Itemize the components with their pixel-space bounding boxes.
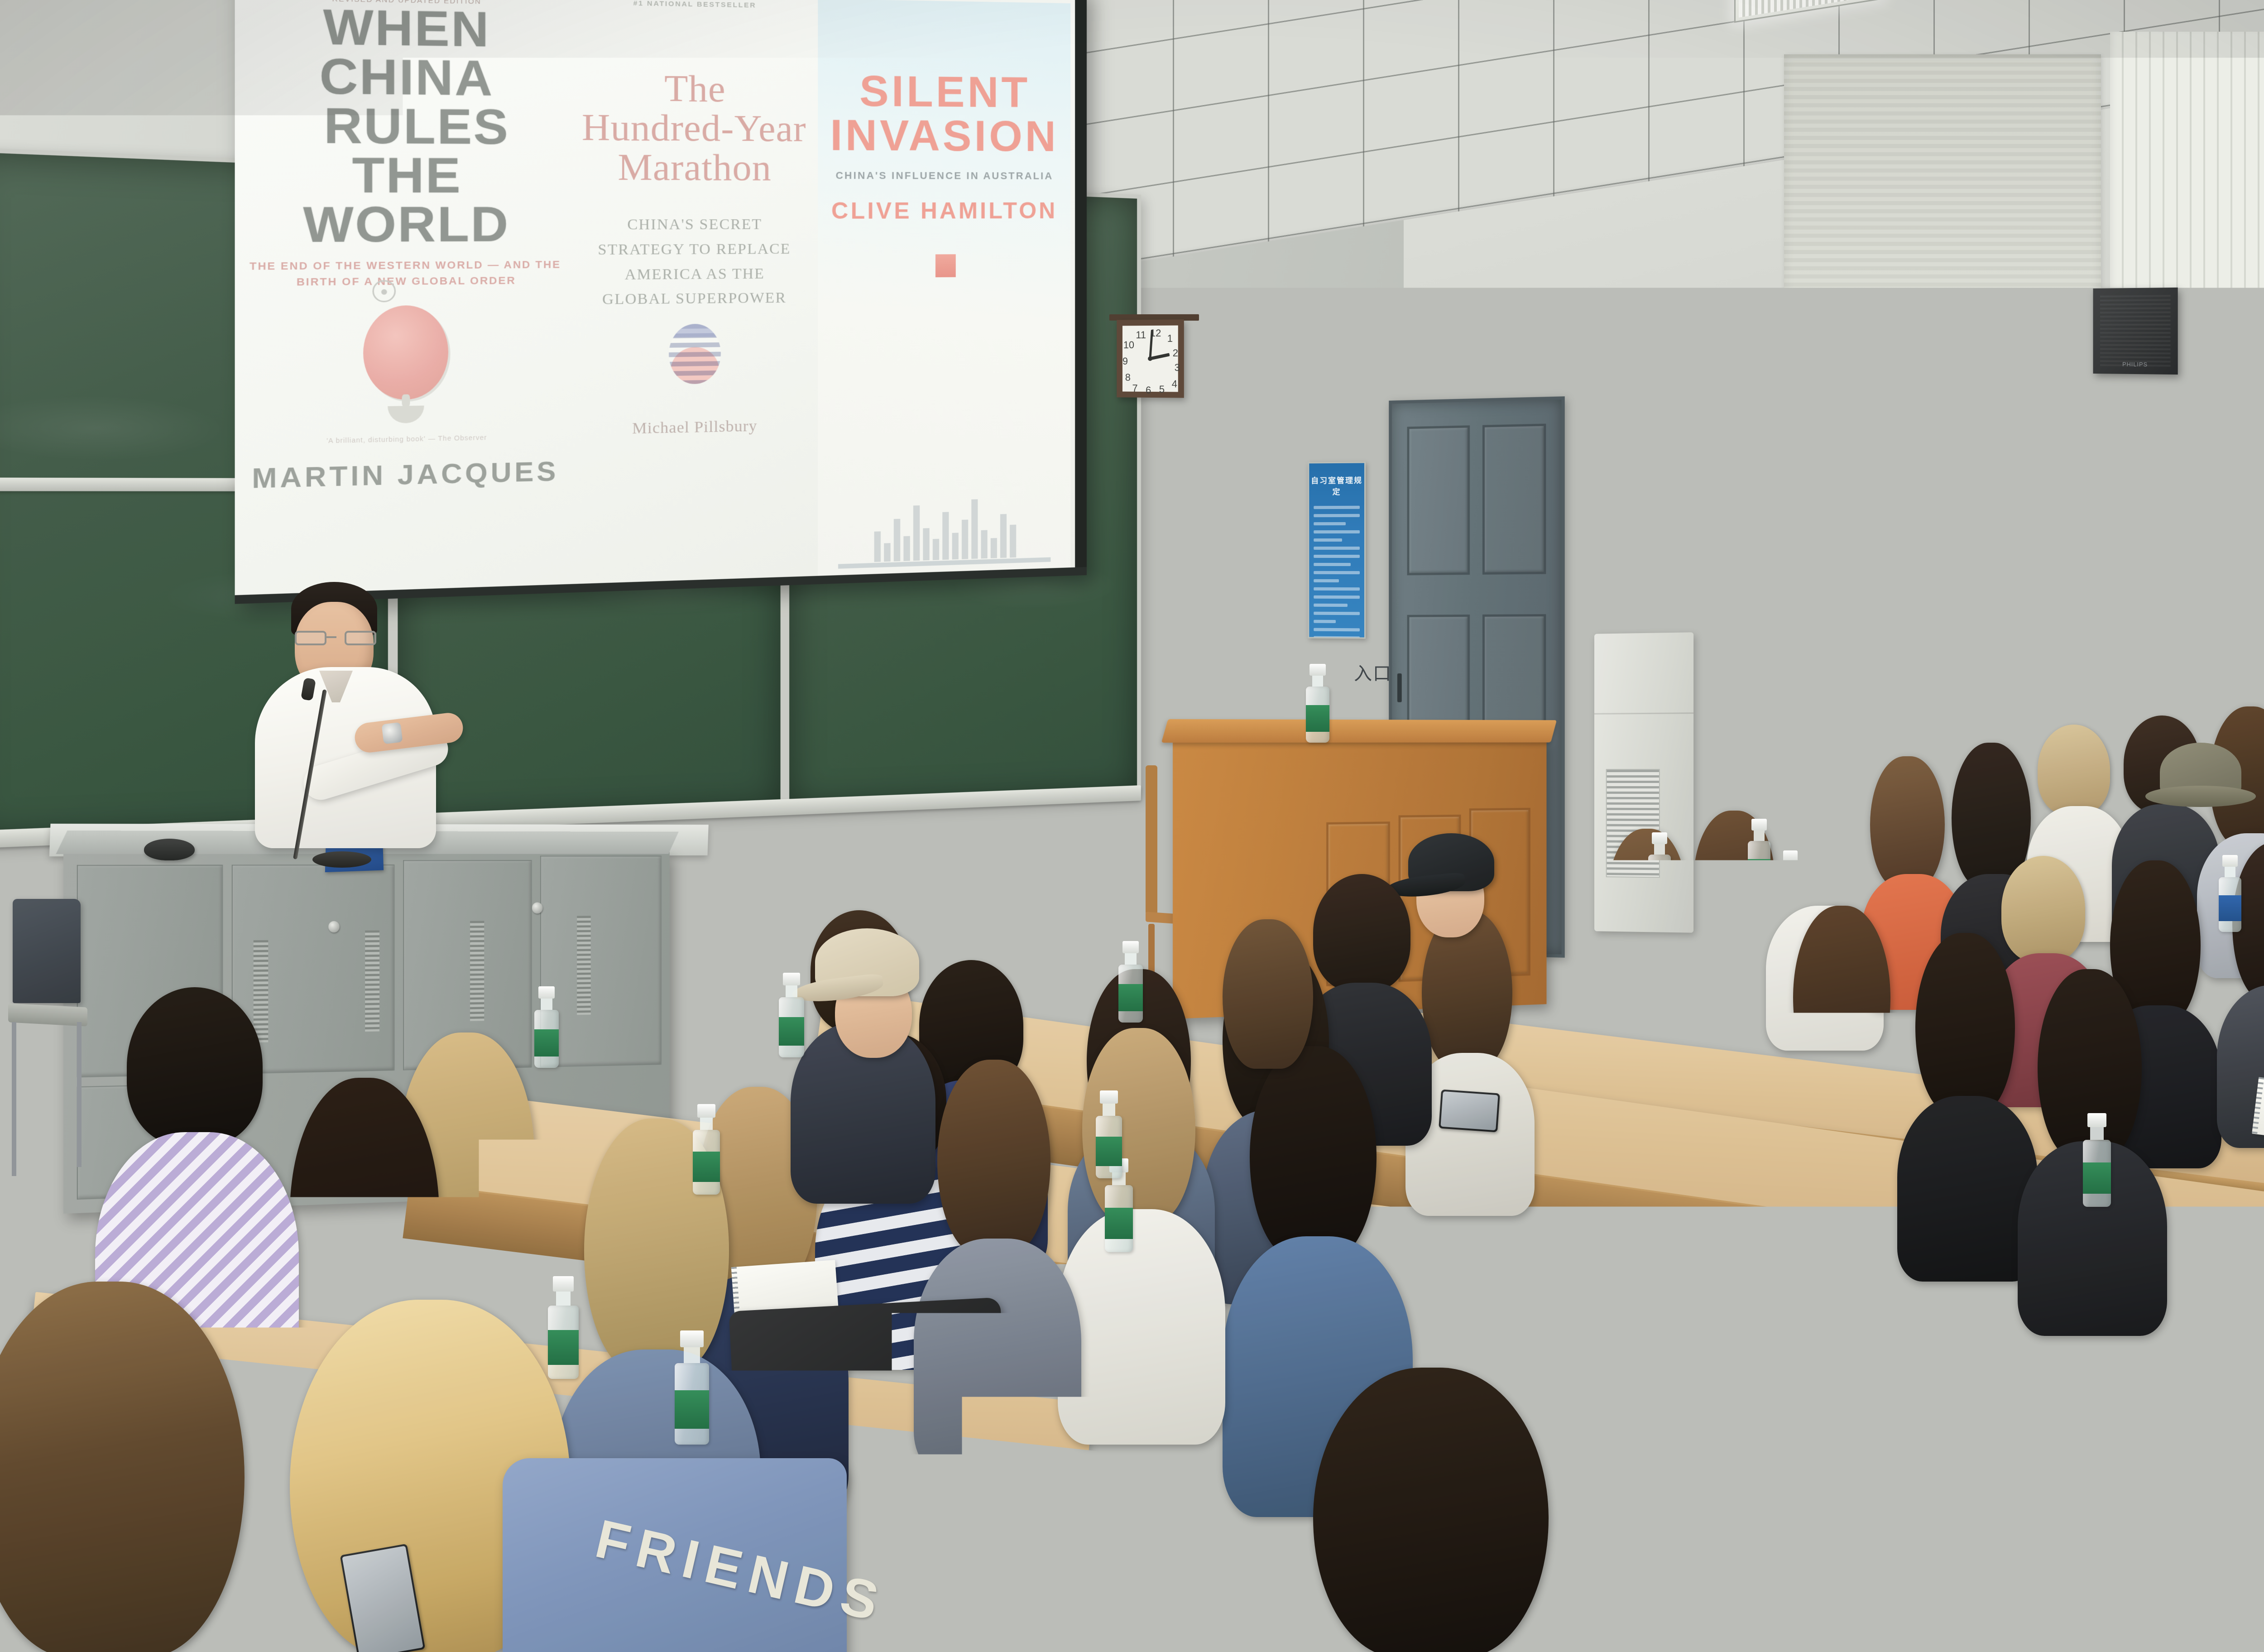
bottle-label <box>2219 895 2241 921</box>
globe-sphere <box>363 305 448 400</box>
book2-subtitle-line-4: GLOBAL SUPERPOWER <box>574 285 814 312</box>
console-lock-1[interactable] <box>328 921 340 933</box>
clock-hour-hand <box>1150 353 1170 360</box>
book3-subtitle: CHINA'S INFLUENCE IN AUSTRALIA <box>818 169 1070 182</box>
book3-title-line-1: SILENT <box>818 68 1070 115</box>
audience-hair <box>937 1060 1050 1254</box>
clock-numeral: 4 <box>1172 378 1177 390</box>
book2-banner: #1 NATIONAL BESTSELLER <box>574 0 814 10</box>
bottle-cap <box>2222 855 2238 866</box>
book2-subtitle: CHINA'S SECRET STRATEGY TO REPLACE AMERI… <box>574 212 814 312</box>
glasses-bridge <box>326 636 336 638</box>
book2-title-line-2: Hundred-Year <box>574 108 814 149</box>
clock-center-hub <box>1148 356 1152 361</box>
bottle-label <box>693 1152 720 1182</box>
water-bottle[interactable] <box>2219 856 2241 932</box>
bottle-neck <box>1654 844 1665 855</box>
clock-numeral: 6 <box>1146 384 1151 396</box>
clock-numeral: 7 <box>1132 383 1138 394</box>
audience-hair <box>1870 756 1945 888</box>
clock-numeral: 9 <box>1122 355 1128 367</box>
audience-torso <box>1897 1096 2038 1282</box>
phone-screen <box>1780 1099 1853 1144</box>
black-hat-on-desk[interactable] <box>1404 946 1512 1014</box>
denim-jacket-lettering: FRIENDS <box>590 1507 892 1634</box>
vertical-blind-right[interactable] <box>2110 32 2264 453</box>
bottle-cap <box>553 1276 574 1292</box>
black-bag-on-desk[interactable] <box>729 1297 1010 1502</box>
desk-apron <box>1506 1391 2264 1596</box>
clock-numeral: 11 <box>1136 329 1146 341</box>
audience-hair <box>127 987 263 1146</box>
lecturer-glasses-icon <box>295 631 376 646</box>
clock-minute-hand <box>1149 330 1153 359</box>
book2-author: Michael Pillsbury <box>574 417 814 439</box>
audience-hair <box>1250 1046 1377 1259</box>
bottle-neck <box>2225 867 2235 878</box>
book1-subtitle: THE END OF THE WESTERN WORLD — AND THE B… <box>244 256 566 290</box>
console-vent-1 <box>254 940 269 1042</box>
bottle-label <box>2083 1162 2111 1194</box>
speaker-grille <box>2100 295 2171 367</box>
lecturer <box>251 582 464 872</box>
bottle-cap <box>2087 1113 2106 1127</box>
bottle-label <box>1780 889 1801 913</box>
clock-numeral: 5 <box>1159 384 1165 395</box>
bottle-label <box>1096 1137 1122 1166</box>
clock-numeral: 3 <box>1175 362 1180 374</box>
book1-author: MARTIN JACQUES <box>244 455 566 495</box>
roller-blind-center[interactable] <box>1784 54 2101 589</box>
chair-leg <box>77 1022 82 1167</box>
water-bottle[interactable] <box>548 1277 579 1379</box>
water-bottle[interactable] <box>779 974 804 1057</box>
beige-baseball-cap <box>815 928 919 996</box>
console-vent-4 <box>577 916 590 1015</box>
notice-board: 自习室管理规定 <box>1308 462 1366 639</box>
globe-stand <box>388 405 424 423</box>
audience-hair <box>1526 883 1614 1037</box>
book-cover-when-china-rules-the-world: REVISED AND UPDATED EDITION WHEN CHINA R… <box>240 0 570 595</box>
wall-clock: 12 1 2 3 4 5 6 7 8 9 10 11 <box>1117 319 1184 398</box>
bottle-neck <box>541 999 552 1010</box>
lecture-hall-photo: REVISED AND UPDATED EDITION WHEN CHINA R… <box>0 0 2264 1652</box>
book-cover-hundred-year-marathon: #1 NATIONAL BESTSELLER The Hundred-Year … <box>570 0 818 584</box>
book2-subtitle-line-1: CHINA'S SECRET <box>574 212 814 237</box>
water-bottle[interactable] <box>1648 833 1671 909</box>
bottle-cap <box>1309 664 1325 676</box>
bottle-cap <box>697 1104 716 1118</box>
audience-hair <box>1607 829 1687 962</box>
flags-emblem-icon <box>669 324 721 384</box>
book3-canvas: SILENT INVASION CHINA'S INFLUENCE IN AUS… <box>818 0 1070 576</box>
clock-numeral: 2 <box>1173 347 1178 359</box>
bottle-label <box>779 1017 804 1046</box>
audience-torso <box>1058 1209 1225 1445</box>
notice-board-text-lines <box>1314 506 1360 639</box>
clock-numeral: 1 <box>1167 333 1173 345</box>
bottle-label <box>1118 984 1143 1012</box>
bottle-neck <box>786 985 798 997</box>
bottle-cap <box>538 986 555 999</box>
chair-back <box>1146 765 1157 915</box>
speaker-brand-label: PHILIPS <box>2093 360 2178 368</box>
lecturer-wristwatch <box>381 722 403 744</box>
water-bottle[interactable] <box>534 987 559 1068</box>
screen-right-border <box>1075 0 1087 576</box>
door-handle[interactable] <box>1397 673 1402 702</box>
bottle-neck <box>1754 831 1765 841</box>
phone-screen <box>1440 1091 1498 1130</box>
book2-subtitle-line-2: STRATEGY TO REPLACE <box>574 236 814 262</box>
bottle-neck <box>700 1118 713 1130</box>
smartphone-held[interactable] <box>1439 1090 1500 1133</box>
console-vent-2 <box>365 930 379 1032</box>
bottle-neck <box>1312 676 1324 687</box>
chair-backrest <box>13 899 81 1003</box>
bottle-neck <box>556 1292 571 1306</box>
book1-title-line-2: RULES <box>244 101 566 152</box>
bottle-neck <box>684 1347 700 1363</box>
bottle-label <box>1105 1208 1133 1239</box>
projection-screen: REVISED AND UPDATED EDITION WHEN CHINA R… <box>235 0 1087 604</box>
bottle-cap <box>1783 850 1798 861</box>
audience-hair <box>2001 856 2085 962</box>
audience-hair <box>1915 933 2015 1114</box>
book1-title: WHEN CHINA RULES THE WORLD <box>244 2 566 250</box>
water-bottle[interactable] <box>1118 942 1143 1023</box>
book1-title-line-1: WHEN CHINA <box>244 2 566 104</box>
notice-board-title: 自习室管理规定 <box>1309 474 1364 497</box>
camouflage-bucket-hat <box>2160 743 2241 802</box>
chair-seat-pad <box>8 1003 87 1026</box>
globe-neck <box>402 394 410 407</box>
radiator-left <box>1703 652 1992 743</box>
book2-subtitle-line-3: AMERICA AS THE <box>574 261 814 287</box>
door-panel-top-left <box>1407 425 1470 575</box>
wall-speaker: PHILIPS <box>2093 288 2178 375</box>
bottle-cap <box>1100 1090 1118 1104</box>
audience-hair <box>1313 874 1410 992</box>
window-mullion-vertical <box>2252 412 2257 598</box>
bottle-neck <box>2090 1127 2104 1140</box>
bottle-cap <box>1657 1081 1674 1095</box>
computer-mouse[interactable] <box>144 839 195 860</box>
chinese-flag-icon <box>935 254 956 277</box>
water-bottle[interactable] <box>1780 851 1801 924</box>
book2-title-line-3: Marathon <box>574 148 814 187</box>
lectern-top-cap <box>1161 719 1557 743</box>
bottle-label <box>1748 859 1770 885</box>
console-vent-3 <box>470 921 484 1021</box>
bottle-label <box>1648 873 1671 898</box>
book1-title-line-3: THE WORLD <box>244 151 566 250</box>
audience-hair <box>1675 946 1775 1128</box>
console-lock-2[interactable] <box>532 903 543 914</box>
blind-slats <box>1784 54 2101 589</box>
bottle-neck <box>1785 861 1795 871</box>
notebook-on-desk[interactable] <box>1641 1138 1732 1199</box>
projected-slide: REVISED AND UPDATED EDITION WHEN CHINA R… <box>235 0 1075 595</box>
water-bottle[interactable] <box>675 1331 709 1445</box>
bottle-cap <box>783 973 800 985</box>
hat-brim <box>2145 786 2256 807</box>
clock-numeral: 10 <box>1123 339 1134 351</box>
water-bottle[interactable] <box>1748 820 1770 896</box>
chair-leg <box>12 1022 16 1176</box>
book3-title: SILENT INVASION <box>818 0 1070 158</box>
podium-microphone-base <box>312 851 371 868</box>
penguin-logo-icon: ● <box>373 280 396 302</box>
book-cover-silent-invasion: SILENT INVASION CHINA'S INFLUENCE IN AUS… <box>818 0 1070 576</box>
water-bottle[interactable] <box>1096 1091 1122 1178</box>
window-right-upper <box>2169 408 2264 602</box>
globe-illustration: ● <box>360 305 454 409</box>
bottle-label <box>1306 705 1329 731</box>
bottle-cap <box>1122 941 1139 953</box>
book2-title: The Hundred-Year Marathon <box>574 68 814 187</box>
bottle-cap <box>680 1330 704 1348</box>
bottle-neck <box>1125 953 1137 965</box>
bottle-neck <box>1660 1095 1672 1107</box>
clock-numeral: 8 <box>1125 372 1131 384</box>
water-bottle-on-lectern[interactable] <box>1306 665 1329 743</box>
door-panel-top-right <box>1482 424 1546 575</box>
water-bottle[interactable] <box>693 1105 720 1195</box>
bottle-neck <box>1103 1104 1115 1116</box>
audience-hair <box>2038 725 2110 815</box>
smartphone-on-desk[interactable] <box>1778 1097 1855 1146</box>
book3-title-line-2: INVASION <box>818 113 1070 158</box>
entrance-sign: 入口 <box>1354 659 1392 685</box>
bottle-label <box>534 1029 559 1057</box>
bottle-cap <box>1652 832 1667 844</box>
side-chair[interactable] <box>5 899 91 1193</box>
black-baseball-cap <box>1408 833 1494 891</box>
bottle-label <box>548 1330 579 1365</box>
book1-quote: 'A brilliant, disturbing book' — The Obs… <box>244 430 566 447</box>
audience-hair <box>1223 919 1313 1069</box>
book2-title-line-1: The <box>574 68 814 110</box>
bottle-label <box>675 1390 709 1429</box>
water-bottle[interactable] <box>2083 1114 2111 1207</box>
window-foliage-view <box>1864 539 1950 660</box>
audience-hair <box>1313 1368 1549 1652</box>
bottle-cap <box>1751 819 1767 830</box>
book3-author: CLIVE HAMILTON <box>818 197 1070 224</box>
skyline-illustration <box>818 465 1070 564</box>
ac-seam <box>1594 712 1693 715</box>
